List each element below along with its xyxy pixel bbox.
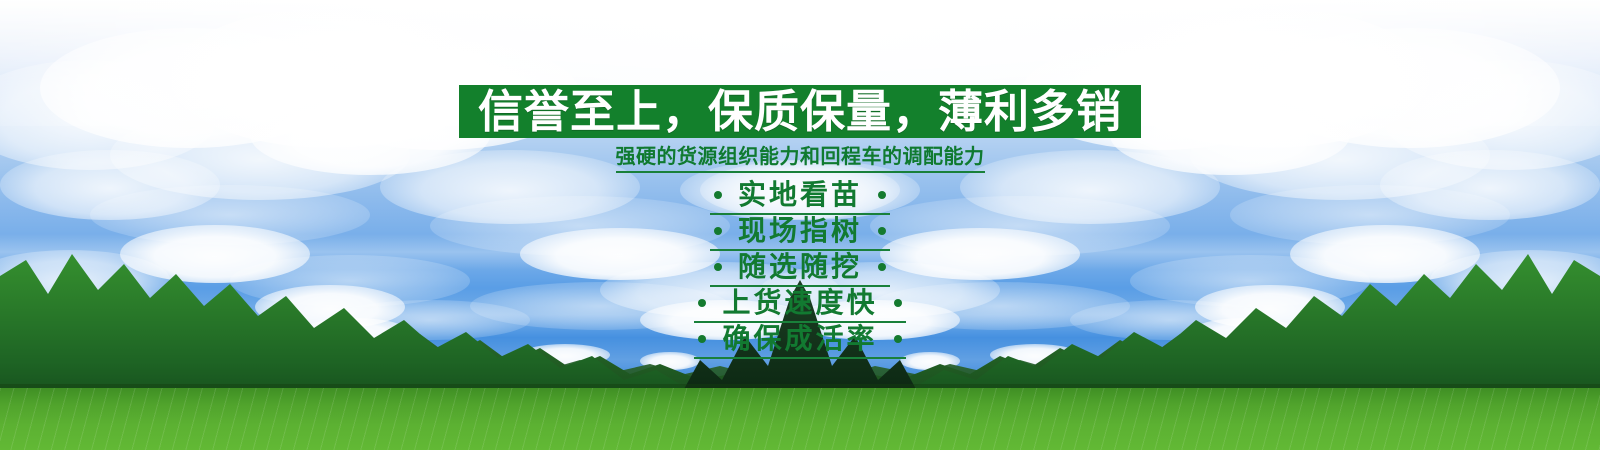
bullet-dot-icon xyxy=(894,299,902,307)
bullet-dot-icon xyxy=(878,263,886,271)
feature-row: 确保成活率 xyxy=(0,324,1600,360)
feature-label: 上货速度快 xyxy=(720,289,879,317)
bullet-dot-icon xyxy=(714,263,722,271)
feature-row: 随选随挖 xyxy=(0,252,1600,288)
bullet-dot-icon xyxy=(714,191,722,199)
bullet-dot-icon xyxy=(698,299,706,307)
feature-list: 实地看苗 现场指树 随选随挖 xyxy=(0,180,1600,360)
subtitle-text: 强硬的货源组织能力和回程车的调配能力 xyxy=(616,145,985,173)
feature-label: 确保成活率 xyxy=(720,325,879,353)
feature-row: 现场指树 xyxy=(0,216,1600,252)
bullet-dot-icon xyxy=(878,227,886,235)
feature-row: 上货速度快 xyxy=(0,288,1600,324)
feature-label: 现场指树 xyxy=(736,217,864,245)
headline-bar: 信誉至上，保质保量，薄利多销 xyxy=(459,85,1141,138)
feature-row: 实地看苗 xyxy=(0,180,1600,216)
feature-label: 实地看苗 xyxy=(736,181,864,209)
bullet-dot-icon xyxy=(714,227,722,235)
subtitle-wrap: 强硬的货源组织能力和回程车的调配能力 xyxy=(0,145,1600,173)
bullet-dot-icon xyxy=(878,191,886,199)
bullet-dot-icon xyxy=(698,335,706,343)
promo-banner: 信誉至上，保质保量，薄利多销 强硬的货源组织能力和回程车的调配能力 实地看苗 现… xyxy=(0,0,1600,450)
green-field xyxy=(0,388,1600,450)
feature-label: 随选随挖 xyxy=(736,253,864,281)
bullet-dot-icon xyxy=(894,335,902,343)
headline-text: 信誉至上，保质保量，薄利多销 xyxy=(478,89,1122,134)
